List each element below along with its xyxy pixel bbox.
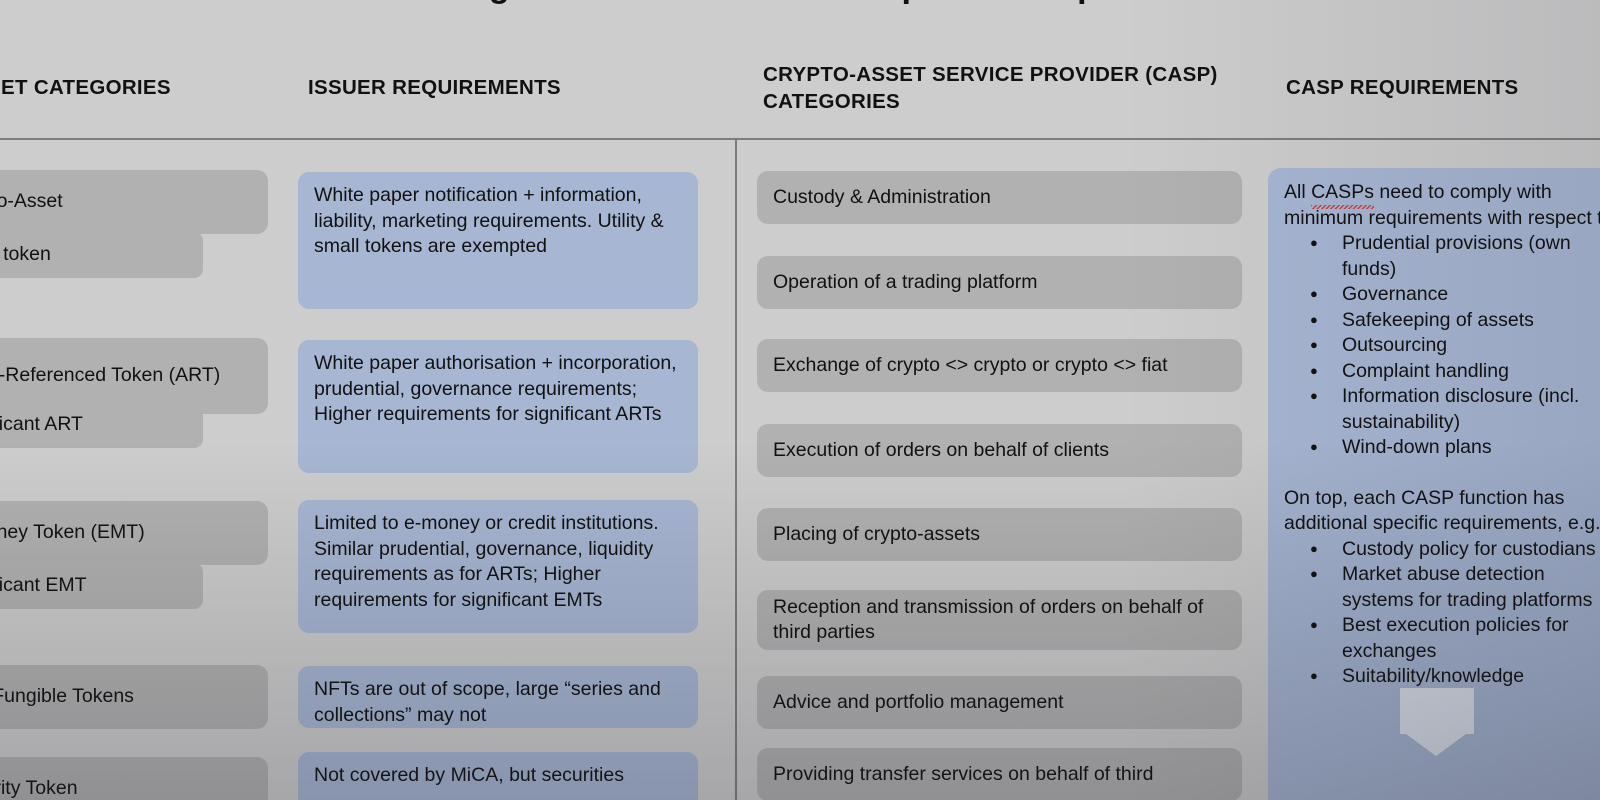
asset-category-box[interactable]: Non-Fungible Tokens [0, 665, 268, 729]
list-item: Outsourcing [1310, 333, 1600, 359]
list-item: Governance [1310, 282, 1600, 308]
casp-category-box[interactable]: Exchange of crypto <> crypto or crypto <… [757, 339, 1242, 392]
casp-category-box[interactable]: Operation of a trading platform [757, 256, 1242, 309]
header-issuer-requirements: ISSUER REQUIREMENTS [308, 74, 708, 101]
list-item: Information disclosure (incl. sustainabi… [1310, 384, 1600, 435]
issuer-requirement-box[interactable]: Limited to e-money or credit institution… [298, 500, 698, 633]
paragraph-spacer [1284, 461, 1600, 486]
header-casp-categories: CRYPTO-ASSET SERVICE PROVIDER (CASP) CAT… [763, 61, 1233, 115]
asset-subcategory-box[interactable]: Significant ART [0, 402, 203, 448]
list-item: Suitability/knowledge [1310, 664, 1600, 690]
casp-requirements-intro: All CASPs need to comply with minimum re… [1284, 180, 1600, 231]
asset-category-box[interactable]: Crypto-Asset [0, 170, 268, 234]
header-casp-requirements: CASP REQUIREMENTS [1286, 74, 1600, 101]
casp-intro-flagged-term: CASPs [1311, 180, 1374, 206]
casp-category-box[interactable]: Placing of crypto-assets [757, 508, 1242, 561]
tooltip-popup-overlay[interactable] [1400, 688, 1474, 734]
casp-category-box[interactable]: Reception and transmission of orders on … [757, 590, 1242, 650]
list-item: Best execution policies for exchanges [1310, 613, 1600, 664]
issuer-requirement-box[interactable]: NFTs are out of scope, large “series and… [298, 666, 698, 728]
casp-category-box[interactable]: Advice and portfolio management [757, 676, 1242, 729]
casp-additional-intro: On top, each CASP function has additiona… [1284, 486, 1600, 537]
issuer-requirement-box[interactable]: White paper authorisation + incorporatio… [298, 340, 698, 473]
casp-additional-requirements-list: Custody policy for custodians Market abu… [1310, 537, 1600, 690]
list-item: Wind-down plans [1310, 435, 1600, 461]
asset-subcategory-box[interactable]: Utility token [0, 232, 203, 278]
slide-title-clipped: MiCA Regulation Overview — Scope and Req… [0, 0, 1600, 10]
column-header-band: ASSET CATEGORIES ISSUER REQUIREMENTS CRY… [0, 44, 1600, 138]
header-divider-horizontal [0, 138, 1600, 140]
header-asset-categories: ASSET CATEGORIES [0, 74, 288, 101]
list-item: Safekeeping of assets [1310, 308, 1600, 334]
asset-category-box[interactable]: Security Token [0, 757, 268, 800]
list-item: Prudential provisions (own funds) [1310, 231, 1600, 282]
issuer-requirement-box[interactable]: Not covered by MiCA, but securities [298, 752, 698, 800]
casp-category-box[interactable]: Execution of orders on behalf of clients [757, 424, 1242, 477]
issuer-requirement-box[interactable]: White paper notification + information, … [298, 172, 698, 309]
list-item: Market abuse detection systems for tradi… [1310, 562, 1600, 613]
column-divider-vertical [735, 139, 737, 800]
list-item: Custody policy for custodians [1310, 537, 1600, 563]
casp-intro-before: All [1284, 181, 1311, 203]
casp-category-box[interactable]: Custody & Administration [757, 171, 1242, 224]
casp-minimum-requirements-list: Prudential provisions (own funds) Govern… [1310, 231, 1600, 461]
list-item: Complaint handling [1310, 359, 1600, 385]
casp-category-box[interactable]: Providing transfer services on behalf of… [757, 748, 1242, 800]
asset-subcategory-box[interactable]: Significant EMT [0, 563, 203, 609]
slide-canvas: MiCA Regulation Overview — Scope and Req… [0, 0, 1600, 800]
asset-category-box[interactable]: E-Money Token (EMT) [0, 501, 268, 565]
